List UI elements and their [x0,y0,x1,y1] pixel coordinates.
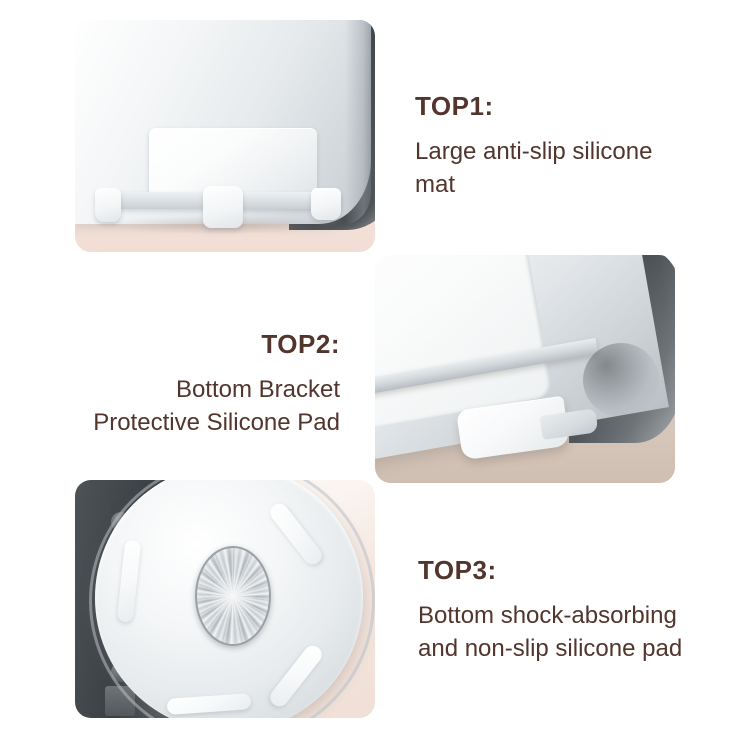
stand-foot-left [95,188,121,222]
feature-description-top1: Large anti-slip silicone mat [415,135,725,201]
feature-description-top2: Bottom Bracket Protective Silicone Pad [30,373,340,439]
feature-photo-top1 [75,20,375,252]
photo-scene-top2 [375,255,675,483]
feature-text-top1: TOP1: Large anti-slip silicone mat [415,92,725,201]
feature-label-top2: TOP2: [30,330,340,359]
plate-shadow-gradient [583,343,659,417]
feature-label-top1: TOP1: [415,92,725,121]
feature-text-top3: TOP3: Bottom shock-absorbing and non-sli… [418,556,738,665]
product-feature-infographic: TOP1: Large anti-slip silicone mat TOP2:… [0,0,750,750]
feature-description-top3: Bottom shock-absorbing and non-slip sili… [418,599,738,665]
feature-photo-top2 [375,255,675,483]
stand-foot-middle [203,186,243,228]
brushed-metal-hub [195,546,271,646]
feature-photo-top3 [75,480,375,718]
stand-foot-right [311,188,341,220]
photo-scene-top1 [75,20,375,252]
feature-text-top2: TOP2: Bottom Bracket Protective Silicone… [30,330,340,439]
photo-scene-top3 [75,480,375,718]
feature-label-top3: TOP3: [418,556,738,585]
